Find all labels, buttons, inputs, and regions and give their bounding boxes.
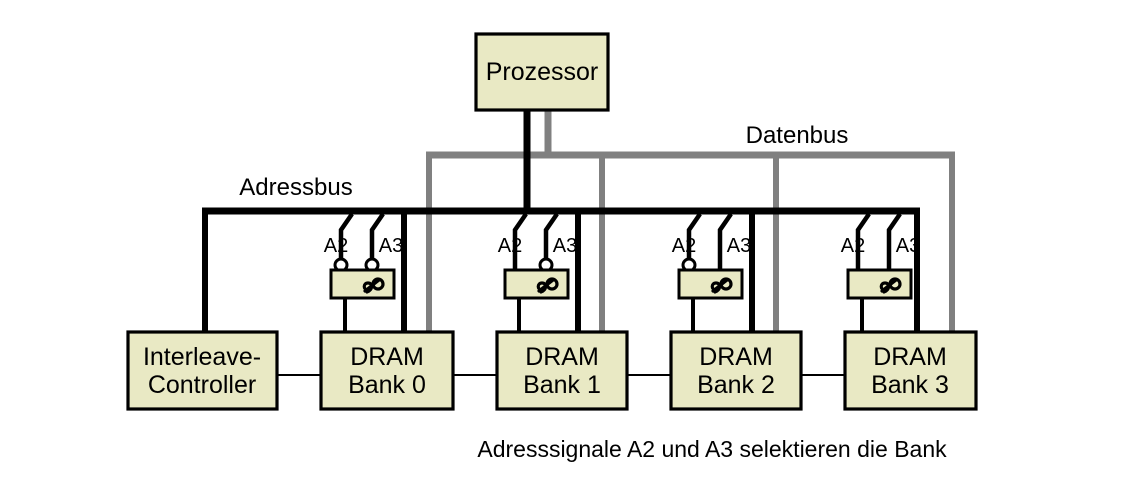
dram-bank-3[interactable]: DRAM Bank 3 (845, 332, 976, 409)
select-logic-bank3: A2 A3 (841, 214, 920, 332)
processor-label: Prozessor (486, 58, 599, 86)
signal-label-a2-bank3: A2 (841, 235, 865, 257)
address-bus-label: Adressbus (239, 174, 352, 201)
select-logic-bank0: A2 A3 (324, 214, 403, 332)
select-logic-bank2: A2 A3 (672, 214, 751, 332)
diagram-caption: Adresssignale A2 und A3 selektieren die … (477, 436, 947, 462)
select-logic-bank1: A2 A3 (498, 214, 577, 332)
data-bus-label: Datenbus (746, 122, 849, 149)
dram-bank-3-label-line1: DRAM (873, 343, 947, 371)
signal-label-a3-bank1: A3 (553, 235, 577, 257)
diagram-canvas: A2 A3 A2 A3 A2 A3 (0, 0, 1146, 500)
signal-label-a2-bank0: A2 (324, 235, 348, 257)
interleaving-diagram-svg: A2 A3 A2 A3 A2 A3 (0, 0, 1146, 500)
signal-label-a3-bank0: A3 (379, 235, 403, 257)
interleave-controller-label-line2: Controller (148, 371, 256, 399)
signal-label-a3-bank3: A3 (896, 235, 920, 257)
dram-bank-0[interactable]: DRAM Bank 0 (321, 332, 453, 409)
signal-label-a2-bank1: A2 (498, 235, 522, 257)
dram-bank-1-label-line2: Bank 1 (523, 371, 601, 399)
dram-bank-2[interactable]: DRAM Bank 2 (671, 332, 801, 409)
dram-bank-1-label-line1: DRAM (525, 343, 599, 371)
processor-block[interactable]: Prozessor (476, 34, 608, 110)
dram-bank-2-label-line2: Bank 2 (697, 371, 775, 399)
signal-label-a3-bank2: A3 (727, 235, 751, 257)
dram-bank-0-label-line2: Bank 0 (348, 371, 426, 399)
dram-bank-2-label-line1: DRAM (699, 343, 773, 371)
dram-bank-0-label-line1: DRAM (350, 343, 424, 371)
dram-bank-3-label-line2: Bank 3 (871, 371, 949, 399)
dram-bank-1[interactable]: DRAM Bank 1 (497, 332, 627, 409)
interleave-controller-label-line1: Interleave- (143, 343, 261, 371)
interleave-controller-block[interactable]: Interleave- Controller (128, 332, 277, 409)
signal-label-a2-bank2: A2 (672, 235, 696, 257)
